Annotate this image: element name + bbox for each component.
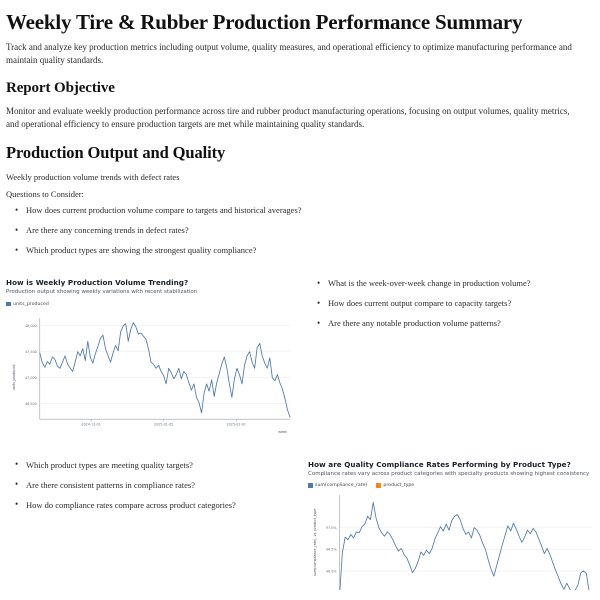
- svg-text:47,500: 47,500: [25, 350, 37, 354]
- y-axis-title: sum(compliance_rate), vs. product_type: [313, 509, 317, 576]
- list-item: How does current production volume compa…: [26, 205, 594, 216]
- legend-label: sum(compliance_rate): [315, 483, 367, 488]
- chart-subtitle: Production output showing weekly variati…: [6, 289, 294, 296]
- compliance-rate-svg: sum(compliance_rate), vs. product_type 9…: [308, 491, 594, 590]
- legend-label: units_produced: [13, 302, 49, 307]
- grid-lines: [40, 325, 290, 403]
- series-group: [340, 503, 592, 590]
- section-subtitle-production-output: Weekly production volume trends with def…: [6, 171, 594, 184]
- y-axis-title: units_produced: [12, 364, 16, 390]
- production-volume-chart-column: How is Weekly Production Volume Trending…: [6, 278, 300, 437]
- document-lede: Track and analyze key production metrics…: [6, 41, 584, 67]
- chart-subtitle: Compliance rates vary across product cat…: [308, 471, 594, 478]
- y-axis-title-group: units_produced: [12, 364, 16, 390]
- series-line-compliance-rate: [340, 503, 592, 590]
- legend-item-units-produced[interactable]: units_produced: [6, 302, 49, 307]
- compliance-rate-chart: How are Quality Compliance Rates Perform…: [308, 460, 594, 590]
- list-item: Are there any concerning trends in defec…: [26, 225, 594, 236]
- content-row-two: Which product types are meeting quality …: [6, 460, 594, 590]
- page-title: Weekly Tire & Rubber Production Performa…: [6, 10, 594, 34]
- list-item: Which product types are showing the stro…: [26, 245, 594, 256]
- svg-text:48,000: 48,000: [25, 324, 37, 328]
- questions-to-consider-label: Questions to Consider:: [6, 189, 594, 199]
- chart-title: How are Quality Compliance Rates Perform…: [308, 460, 594, 469]
- section-heading-production-output: Production Output and Quality: [6, 143, 594, 163]
- list-item: Which product types are meeting quality …: [26, 460, 294, 471]
- svg-text:47,000: 47,000: [25, 376, 37, 380]
- chart-legend: units_produced: [6, 302, 294, 307]
- list-item: Are there any notable production volume …: [328, 318, 594, 329]
- legend-label: product_type: [383, 483, 414, 488]
- list-item: What is the week-over-week change in pro…: [328, 278, 594, 289]
- list-item: How does current output compare to capac…: [328, 298, 594, 309]
- svg-text:46,500: 46,500: [25, 402, 37, 406]
- svg-text:96.5%: 96.5%: [326, 548, 337, 552]
- x-axis-title: week: [278, 430, 287, 434]
- compliance-rate-chart-column: How are Quality Compliance Rates Perform…: [300, 460, 594, 590]
- section-heading-report-objective: Report Objective: [6, 80, 594, 97]
- y-tick-labels: 46,50047,00047,50048,000: [25, 324, 37, 406]
- questions-list-compliance: Which product types are meeting quality …: [6, 460, 294, 511]
- questions-column-right: What is the week-over-week change in pro…: [300, 278, 594, 338]
- list-item: Are there consistent patterns in complia…: [26, 480, 294, 491]
- svg-text:96.0%: 96.0%: [326, 569, 337, 573]
- chart-title: How is Weekly Production Volume Trending…: [6, 278, 294, 287]
- legend-item-product-type[interactable]: product_type: [376, 483, 414, 488]
- legend-item-compliance-rate[interactable]: sum(compliance_rate): [308, 483, 367, 488]
- chart-plot-area[interactable]: sum(compliance_rate), vs. product_type 9…: [308, 491, 594, 590]
- y-tick-labels: 96.0%96.5%97.0%: [326, 526, 337, 573]
- series-group: [40, 322, 290, 417]
- x-tick-labels: 2024-12-012025-01-052025-02-01: [81, 419, 246, 426]
- svg-text:2025-02-01: 2025-02-01: [226, 422, 246, 426]
- production-volume-chart: How is Weekly Production Volume Trending…: [6, 278, 294, 437]
- legend-swatch-icon: [308, 483, 313, 488]
- series-line-units-produced: [40, 322, 290, 417]
- chart-plot-area[interactable]: units_produced 46,50047,00047,50048,000 …: [6, 310, 294, 437]
- section-body-report-objective: Monitor and evaluate weekly production p…: [6, 105, 584, 131]
- questions-column-left: Which product types are meeting quality …: [6, 460, 300, 520]
- document-page: Weekly Tire & Rubber Production Performa…: [0, 0, 600, 600]
- questions-list-volume: What is the week-over-week change in pro…: [308, 278, 594, 329]
- legend-swatch-icon: [6, 302, 11, 307]
- list-item: How do compliance rates compare across p…: [26, 500, 294, 511]
- content-row-one: How is Weekly Production Volume Trending…: [6, 278, 594, 437]
- questions-list-primary: How does current production volume compa…: [6, 205, 594, 256]
- svg-text:2024-12-01: 2024-12-01: [81, 422, 101, 426]
- svg-text:97.0%: 97.0%: [326, 526, 337, 530]
- svg-text:2025-01-05: 2025-01-05: [154, 422, 174, 426]
- chart-legend: sum(compliance_rate) product_type: [308, 483, 594, 488]
- legend-swatch-icon: [376, 483, 381, 488]
- y-axis-title-group: sum(compliance_rate), vs. product_type: [313, 509, 317, 576]
- production-volume-svg: units_produced 46,50047,00047,50048,000 …: [6, 310, 294, 437]
